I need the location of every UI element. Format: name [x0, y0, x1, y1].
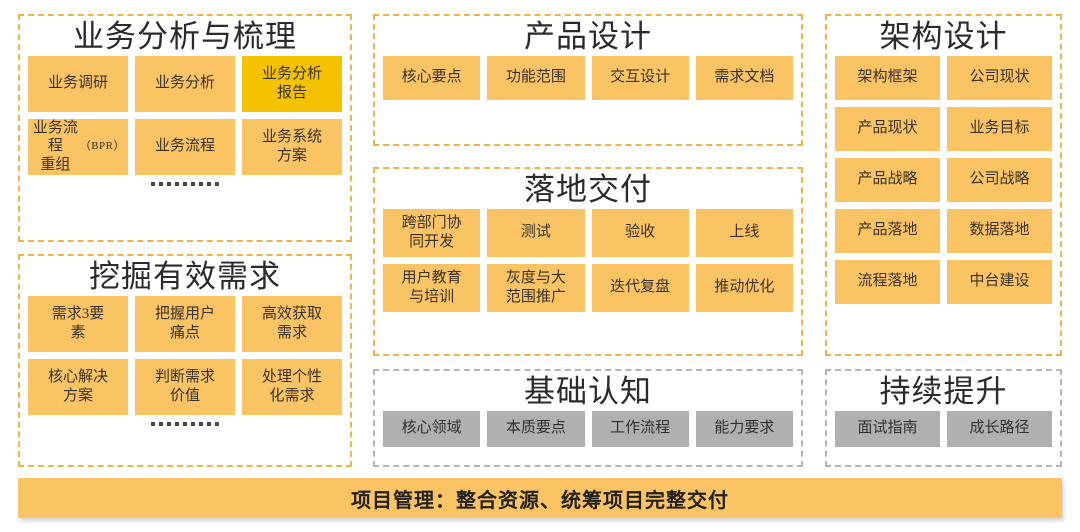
chip-company-status[interactable]: 公司现状	[947, 56, 1052, 100]
chip-requirements-doc[interactable]: 需求文档	[696, 56, 793, 100]
chip-row: 业务调研 业务分析 业务分析 报告	[28, 56, 342, 112]
panel-title-business-analysis: 业务分析与梳理	[20, 16, 350, 56]
chip-grid-effective-requirements: 需求3要 素 把握用户 痛点 高效获取 需求 核心解决 方案 判断需求 价值 处…	[20, 296, 350, 426]
chip-row: 需求3要 素 把握用户 痛点 高效获取 需求	[28, 296, 342, 352]
chip-row: 核心要点 功能范围 交互设计 需求文档	[383, 56, 793, 100]
chip-business-research[interactable]: 业务调研	[28, 56, 128, 112]
chip-business-analysis-report[interactable]: 业务分析 报告	[242, 56, 342, 112]
chip-business-process[interactable]: 业务流程	[135, 119, 235, 175]
chip-growth-path[interactable]: 成长路径	[947, 411, 1052, 447]
chip-grid-architecture: 架构框架 公司现状 产品现状 业务目标 产品战略 公司战略 产品落地 数据落地 …	[827, 56, 1060, 304]
chip-drive-optimization[interactable]: 推动优化	[696, 264, 793, 312]
chip-company-strategy[interactable]: 公司战略	[947, 158, 1052, 202]
chip-gray-release[interactable]: 灰度与大 范围推广	[487, 264, 584, 312]
chip-core-points[interactable]: 核心要点	[383, 56, 480, 100]
chip-capability-requirements[interactable]: 能力要求	[696, 411, 793, 447]
chip-row: 产品落地 数据落地	[835, 209, 1052, 253]
chip-business-analysis[interactable]: 业务分析	[135, 56, 235, 112]
panel-effective-requirements: 挖掘有效需求 需求3要 素 把握用户 痛点 高效获取 需求 核心解决 方案 判断…	[18, 254, 352, 467]
chip-work-process[interactable]: 工作流程	[592, 411, 689, 447]
footer-text: 项目管理：整合资源、统筹项目完整交付	[351, 484, 729, 513]
chip-row: 架构框架 公司现状	[835, 56, 1052, 100]
ellipsis-effective-requirements	[28, 422, 342, 426]
chip-grid-improvement: 面试指南 成长路径	[827, 411, 1060, 447]
chip-interview-guide[interactable]: 面试指南	[835, 411, 940, 447]
footer-project-management-banner: 项目管理：整合资源、统筹项目完整交付	[18, 478, 1062, 518]
panel-delivery: 落地交付 跨部门协 同开发 测试 验收 上线 用户教育 与培训 灰度与大 范围推…	[373, 167, 803, 356]
panel-foundation: 基础认知 核心领域 本质要点 工作流程 能力要求	[373, 369, 803, 467]
ellipsis-business-analysis	[28, 182, 342, 186]
chip-business-system-plan[interactable]: 业务系统 方案	[242, 119, 342, 175]
chip-judge-value[interactable]: 判断需求 价值	[135, 359, 235, 415]
chip-bpr[interactable]: 业务流程 重组（BPR）	[28, 119, 128, 175]
panel-title-improvement: 持续提升	[827, 371, 1060, 411]
chip-row: 跨部门协 同开发 测试 验收 上线	[383, 209, 793, 257]
chip-row: 流程落地 中台建设	[835, 260, 1052, 304]
chip-row: 核心领域 本质要点 工作流程 能力要求	[383, 411, 793, 447]
chip-grid-foundation: 核心领域 本质要点 工作流程 能力要求	[375, 411, 801, 447]
panel-business-analysis: 业务分析与梳理 业务调研 业务分析 业务分析 报告 业务流程 重组（BPR） 业…	[18, 14, 352, 242]
panel-title-effective-requirements: 挖掘有效需求	[20, 256, 350, 296]
chip-grid-business-analysis: 业务调研 业务分析 业务分析 报告 业务流程 重组（BPR） 业务流程 业务系统…	[20, 56, 350, 186]
panel-product-design: 产品设计 核心要点 功能范围 交互设计 需求文档	[373, 14, 803, 146]
diagram-canvas: 业务分析与梳理 业务调研 业务分析 业务分析 报告 业务流程 重组（BPR） 业…	[0, 0, 1080, 532]
chip-core-domain[interactable]: 核心领域	[383, 411, 480, 447]
panel-title-delivery: 落地交付	[375, 169, 801, 209]
chip-testing[interactable]: 测试	[487, 209, 584, 257]
chip-efficient-acquisition[interactable]: 高效获取 需求	[242, 296, 342, 352]
chip-user-painpoints[interactable]: 把握用户 痛点	[135, 296, 235, 352]
chip-architecture-framework[interactable]: 架构框架	[835, 56, 940, 100]
chip-row: 产品战略 公司战略	[835, 158, 1052, 202]
chip-iteration-review[interactable]: 迭代复盘	[592, 264, 689, 312]
panel-title-architecture: 架构设计	[827, 16, 1060, 56]
chip-essential-points[interactable]: 本质要点	[487, 411, 584, 447]
chip-row: 业务流程 重组（BPR） 业务流程 业务系统 方案	[28, 119, 342, 175]
chip-process-implementation[interactable]: 流程落地	[835, 260, 940, 304]
chip-product-strategy[interactable]: 产品战略	[835, 158, 940, 202]
chip-user-education[interactable]: 用户教育 与培训	[383, 264, 480, 312]
chip-row: 面试指南 成长路径	[835, 411, 1052, 447]
chip-functional-scope[interactable]: 功能范围	[487, 56, 584, 100]
chip-product-status[interactable]: 产品现状	[835, 107, 940, 151]
panel-architecture: 架构设计 架构框架 公司现状 产品现状 业务目标 产品战略 公司战略 产品落地 …	[825, 14, 1062, 356]
chip-grid-product-design: 核心要点 功能范围 交互设计 需求文档	[375, 56, 801, 100]
chip-acceptance[interactable]: 验收	[592, 209, 689, 257]
chip-cross-department-dev[interactable]: 跨部门协 同开发	[383, 209, 480, 257]
chip-data-implementation[interactable]: 数据落地	[947, 209, 1052, 253]
chip-product-implementation[interactable]: 产品落地	[835, 209, 940, 253]
chip-personalized-needs[interactable]: 处理个性 化需求	[242, 359, 342, 415]
chip-business-goals[interactable]: 业务目标	[947, 107, 1052, 151]
chip-interaction-design[interactable]: 交互设计	[592, 56, 689, 100]
chip-middle-platform[interactable]: 中台建设	[947, 260, 1052, 304]
panel-title-product-design: 产品设计	[375, 16, 801, 56]
chip-grid-delivery: 跨部门协 同开发 测试 验收 上线 用户教育 与培训 灰度与大 范围推广 迭代复…	[375, 209, 801, 312]
chip-core-solution[interactable]: 核心解决 方案	[28, 359, 128, 415]
chip-three-elements[interactable]: 需求3要 素	[28, 296, 128, 352]
panel-title-foundation: 基础认知	[375, 371, 801, 411]
chip-row: 用户教育 与培训 灰度与大 范围推广 迭代复盘 推动优化	[383, 264, 793, 312]
chip-row: 核心解决 方案 判断需求 价值 处理个性 化需求	[28, 359, 342, 415]
chip-row: 产品现状 业务目标	[835, 107, 1052, 151]
panel-improvement: 持续提升 面试指南 成长路径	[825, 369, 1062, 467]
chip-go-live[interactable]: 上线	[696, 209, 793, 257]
